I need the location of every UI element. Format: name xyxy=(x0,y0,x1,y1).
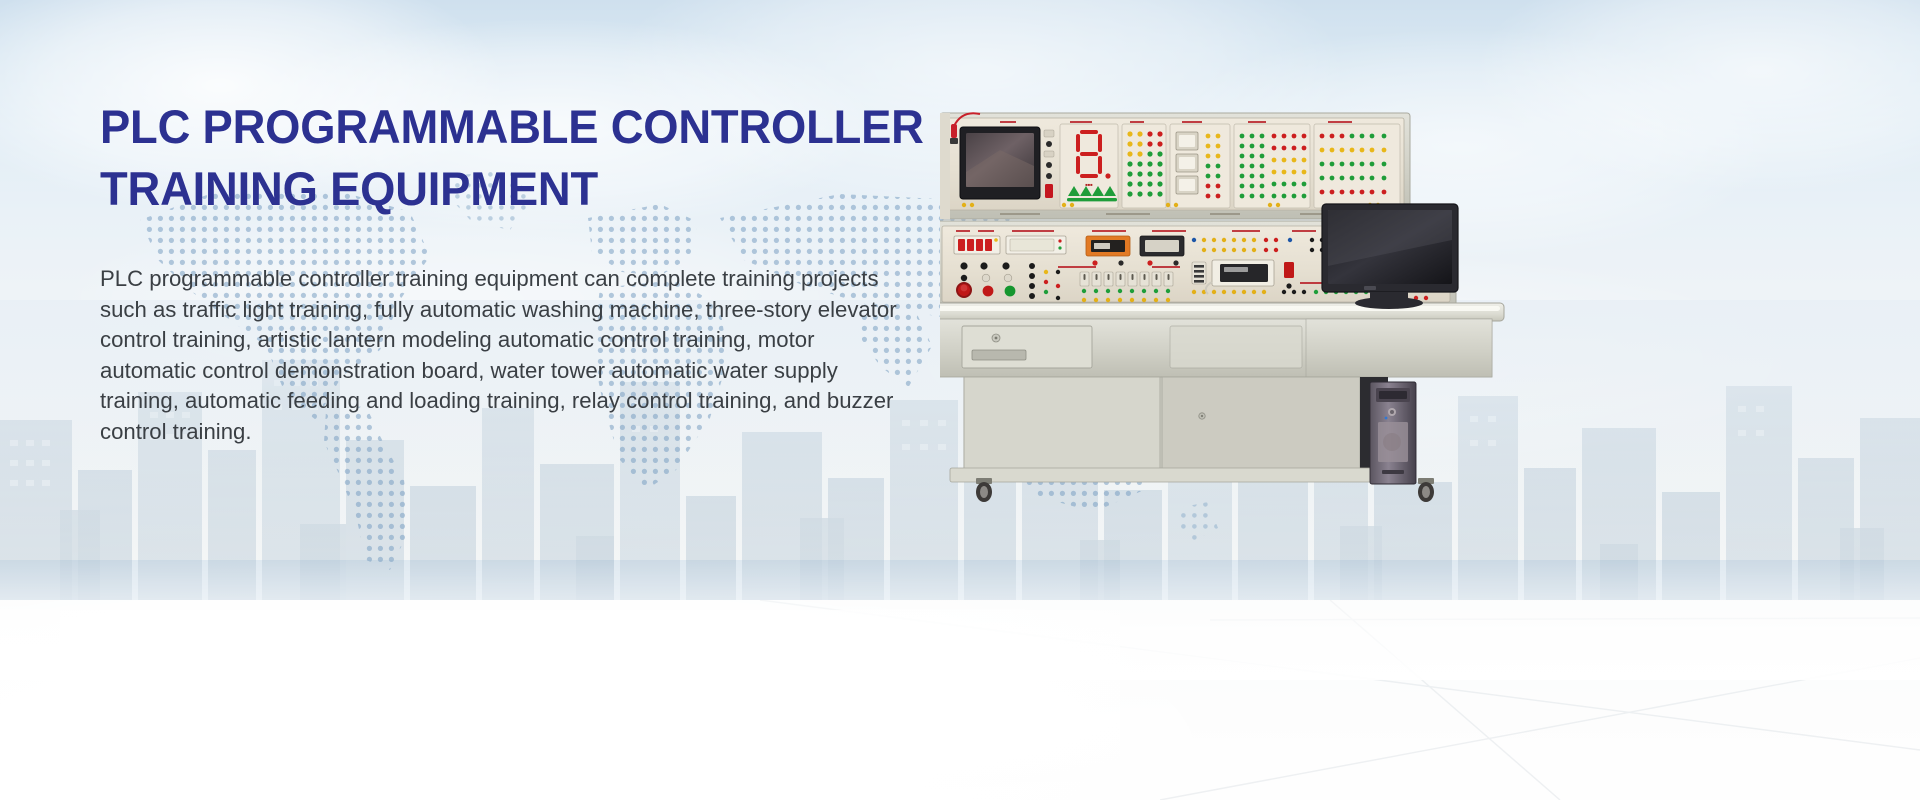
digital-meter xyxy=(1006,236,1066,254)
orange-instrument xyxy=(1086,236,1130,256)
cabinet-door-left xyxy=(964,377,1160,477)
caster-wheel-right xyxy=(1418,478,1434,502)
floor-perspective-lines xyxy=(0,600,1920,800)
plc-training-equipment-image: ■■■ xyxy=(940,100,1520,520)
cabinet-door-right xyxy=(1162,377,1360,477)
hmi-touchscreen xyxy=(960,127,1040,199)
work-desk xyxy=(940,303,1504,502)
lantern-modeling-board xyxy=(1234,124,1310,208)
led-indicator-matrix xyxy=(1122,124,1166,208)
page-title: PLC PROGRAMMABLE CONTROLLER TRAINING EQU… xyxy=(100,96,997,220)
seven-segment-display: ■■■ xyxy=(1060,124,1118,208)
black-instrument xyxy=(1140,236,1184,256)
caster-wheel-left xyxy=(976,478,992,502)
hero-text-block: PLC PROGRAMMABLE CONTROLLER TRAINING EQU… xyxy=(100,96,1030,447)
desk-drawer xyxy=(962,326,1092,368)
drawer-handle xyxy=(972,350,1026,360)
hero-description: PLC programmable controller training equ… xyxy=(100,264,903,447)
relay-module-bank xyxy=(1170,124,1230,208)
emergency-stop-button xyxy=(956,282,972,298)
svg-text:■■■: ■■■ xyxy=(1085,182,1093,187)
upper-right-module xyxy=(1314,124,1400,208)
circuit-breaker-bank xyxy=(954,236,1000,254)
upper-instrument-panel: ■■■ xyxy=(940,113,1410,219)
hero-banner: PLC PROGRAMMABLE CONTROLLER TRAINING EQU… xyxy=(0,0,1920,800)
desktop-computer-tower xyxy=(1370,382,1416,484)
